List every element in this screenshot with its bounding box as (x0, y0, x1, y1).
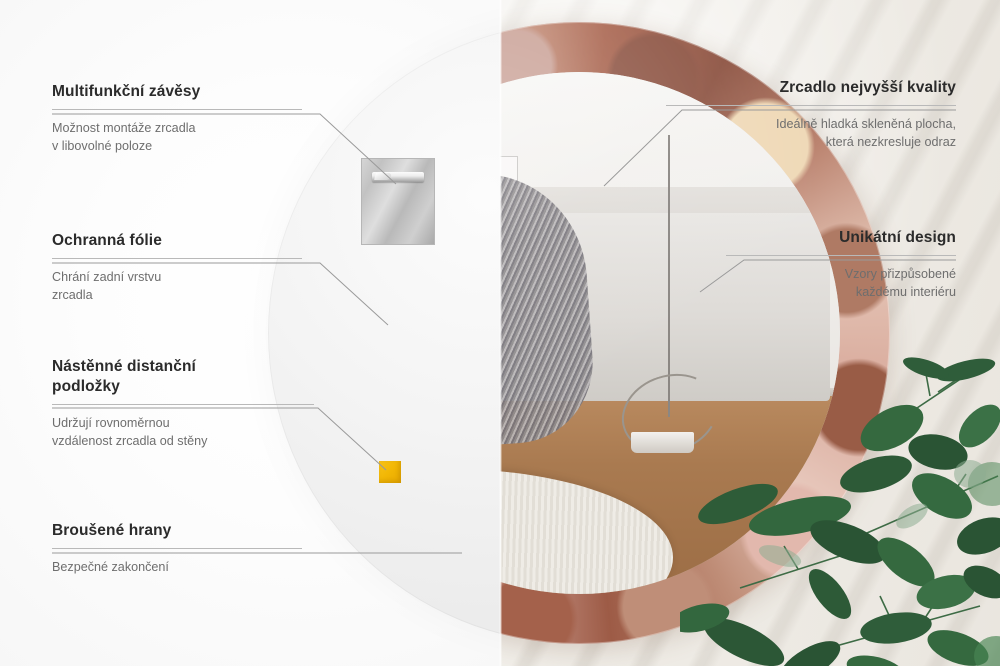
panel-seam (499, 0, 502, 666)
callout-title: Nástěnné distanční podložky (52, 357, 314, 397)
callout-title: Multifunkční závěsy (52, 82, 302, 102)
callout-title: Unikátní design (726, 228, 956, 248)
callout-protective-film: Ochranná fólie Chrání zadní vrstvu zrcad… (52, 231, 302, 304)
yellow-distance-pad (379, 461, 401, 483)
hanger-slot-icon (374, 173, 392, 180)
callout-description: Chrání zadní vrstvu zrcadla (52, 268, 302, 305)
callout-highest-quality-mirror: Zrcadlo nejvyšší kvality Ideálně hladká … (666, 78, 956, 151)
callout-rule (52, 109, 302, 110)
callout-title: Ochranná fólie (52, 231, 302, 251)
callout-description: Bezpečné zakončení (52, 558, 302, 576)
callout-multifunctional-hangers: Multifunkční závěsy Možnost montáže zrca… (52, 82, 302, 155)
callout-title: Broušené hrany (52, 521, 302, 541)
callout-rule (52, 404, 314, 405)
callout-description: Udržují rovnoměrnou vzdálenost zrcadla o… (52, 414, 314, 451)
callout-description: Možnost montáže zrcadla v libovolné polo… (52, 119, 302, 156)
foliage-decoration (680, 356, 1000, 666)
infographic-canvas: Multifunkční závěsy Možnost montáže zrca… (0, 0, 1000, 666)
callout-title: Zrcadlo nejvyšší kvality (666, 78, 956, 98)
callout-rule (666, 105, 956, 106)
callout-rule (726, 255, 956, 256)
callout-wall-spacers: Nástěnné distanční podložky Udržují rovn… (52, 357, 314, 450)
callout-description: Vzory přizpůsobené každému interiéru (726, 265, 956, 302)
callout-description: Ideálně hladká skleněná plocha, která ne… (666, 115, 956, 152)
hanger-plate (361, 158, 435, 245)
callout-rule (52, 548, 302, 549)
callout-rule (52, 258, 302, 259)
callout-unique-design: Unikátní design Vzory přizpůsobené každé… (726, 228, 956, 301)
callout-polished-edges: Broušené hrany Bezpečné zakončení (52, 521, 302, 576)
